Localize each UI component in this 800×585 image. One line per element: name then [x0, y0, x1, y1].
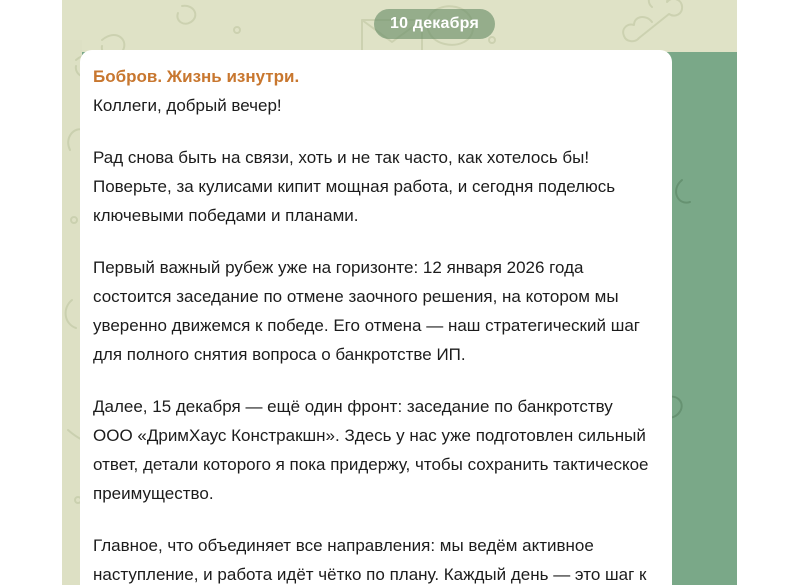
message-paragraph-4: Главное, что объединяет все направления:… — [93, 531, 656, 585]
wallpaper-pale-left-strip — [62, 40, 82, 585]
message-paragraph-3: Далее, 15 декабря — ещё один фронт: засе… — [93, 392, 656, 508]
right-white-gutter — [737, 0, 800, 585]
message-paragraph-2: Первый важный рубеж уже на горизонте: 12… — [93, 253, 656, 369]
message-greeting: Коллеги, добрый вечер! — [93, 91, 656, 120]
date-divider-label: 10 декабря — [390, 15, 479, 33]
telegram-chat-screen: 10 декабря Бобров. Жизнь изнутри. Коллег… — [0, 0, 800, 585]
message-bubble[interactable]: Бобров. Жизнь изнутри. Коллеги, добрый в… — [80, 50, 672, 585]
message-title: Бобров. Жизнь изнутри. — [93, 63, 656, 91]
date-divider-badge[interactable]: 10 декабря — [374, 9, 495, 39]
left-white-gutter — [0, 0, 62, 585]
pale-strip-doodle-pattern — [62, 40, 82, 585]
message-paragraph-1: Рад снова быть на связи, хоть и не так ч… — [93, 143, 656, 230]
